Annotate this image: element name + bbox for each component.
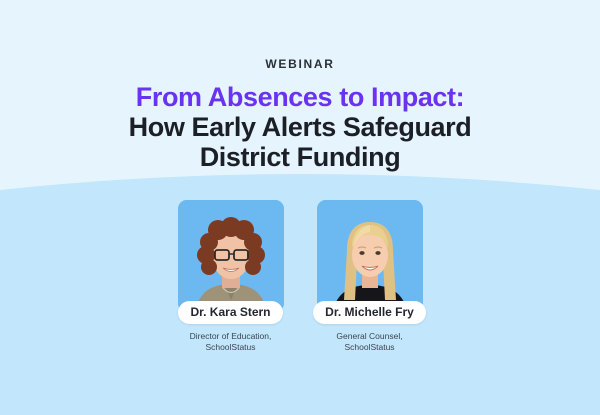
eyebrow-label: WEBINAR (0, 57, 600, 71)
speaker-card-kara-stern: Dr. Kara Stern Director of Education, Sc… (178, 200, 284, 353)
speaker-role: Director of Education, SchoolStatus (190, 331, 272, 353)
speaker-photo-kara-stern (178, 200, 284, 312)
webinar-promo-card: WEBINAR From Absences to Impact: How Ear… (0, 0, 600, 415)
page-title: From Absences to Impact: How Early Alert… (0, 82, 600, 172)
headline-line-3: District Funding (0, 142, 600, 172)
headline-line-2: How Early Alerts Safeguard (0, 112, 600, 142)
speaker-list: Dr. Kara Stern Director of Education, Sc… (0, 200, 600, 353)
speaker-role: General Counsel, SchoolStatus (336, 331, 402, 353)
speaker-card-michelle-fry: Dr. Michelle Fry General Counsel, School… (317, 200, 423, 353)
headshot-illustration-icon (178, 200, 284, 312)
speaker-name-badge: Dr. Kara Stern (178, 301, 282, 324)
speaker-photo-michelle-fry (317, 200, 423, 312)
headline-line-1: From Absences to Impact: (0, 82, 600, 112)
headshot-illustration-icon (317, 200, 423, 312)
speaker-name-badge: Dr. Michelle Fry (313, 301, 426, 324)
